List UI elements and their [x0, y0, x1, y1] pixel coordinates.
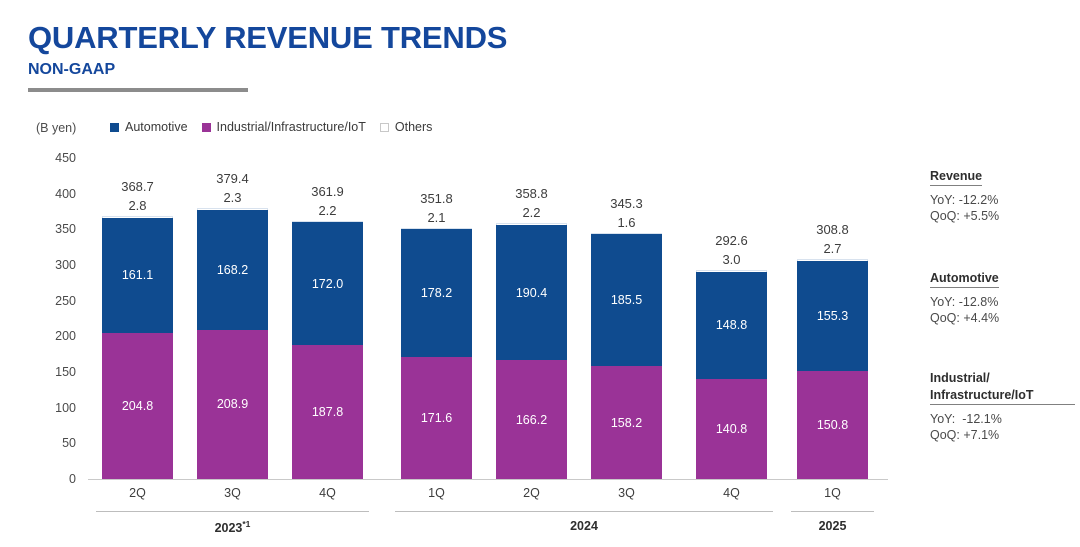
- x-axis-tick-label: 2Q: [496, 486, 567, 500]
- year-group-label: 2025: [791, 519, 874, 533]
- y-axis-tick-label: 100: [36, 402, 76, 415]
- bar-value-automotive: 190.4: [496, 287, 567, 300]
- annotation-heading: Automotive: [930, 270, 999, 288]
- bar-value-others: 2.2: [283, 204, 373, 217]
- bar-value-others: 2.3: [188, 191, 278, 204]
- x-axis-tick-label: 2Q: [102, 486, 173, 500]
- annotation-block-automotive: AutomotiveYoY: -12.8%QoQ: +4.4%: [930, 270, 1075, 326]
- year-label-text: 2024: [570, 519, 598, 533]
- annotation-heading: Revenue: [930, 168, 982, 186]
- bar-value-automotive: 161.1: [102, 269, 173, 282]
- bar-value-others: 1.6: [582, 216, 672, 229]
- x-axis-tick-label: 3Q: [197, 486, 268, 500]
- annotation-yoy: YoY: -12.1%: [930, 411, 1075, 427]
- bar-value-industrial: 166.2: [496, 414, 567, 427]
- stacked-bar[interactable]: [401, 228, 472, 479]
- bar-value-others: 2.1: [392, 211, 482, 224]
- annotation-block-revenue: RevenueYoY: -12.2%QoQ: +5.5%: [930, 168, 1075, 224]
- y-axis-tick-label: 450: [36, 152, 76, 165]
- year-group-rule: [96, 511, 369, 512]
- y-axis-tick-label: 250: [36, 295, 76, 308]
- annotation-heading-wrap: Automotive: [930, 270, 1075, 294]
- y-axis-tick-label: 0: [36, 473, 76, 486]
- y-axis-tick-label: 200: [36, 330, 76, 343]
- stacked-bar[interactable]: [591, 233, 662, 479]
- annotation-qoq: QoQ: +5.5%: [930, 208, 1075, 224]
- annotation-heading: Industrial/Infrastructure/IoT: [930, 370, 1075, 405]
- annotation-heading-line2: Infrastructure/IoT: [930, 387, 1075, 405]
- year-label-text: 2025: [819, 519, 847, 533]
- year-group-rule: [791, 511, 874, 512]
- x-axis-tick-label: 1Q: [401, 486, 472, 500]
- bar-value-total: 368.7: [93, 180, 183, 193]
- annotation-yoy: YoY: -12.2%: [930, 192, 1075, 208]
- year-footnote-marker: *1: [242, 519, 250, 529]
- year-group-label: 2024: [395, 519, 773, 533]
- bar-value-others: 2.8: [93, 199, 183, 212]
- bar-value-automotive: 155.3: [797, 310, 868, 323]
- annotation-heading-wrap: Revenue: [930, 168, 1075, 192]
- bar-value-total: 292.6: [687, 234, 777, 247]
- y-axis-tick-label: 350: [36, 223, 76, 236]
- bar-value-others: 2.2: [487, 206, 577, 219]
- bar-value-automotive: 168.2: [197, 264, 268, 277]
- y-axis-tick-label: 400: [36, 188, 76, 201]
- stacked-bar[interactable]: [292, 221, 363, 479]
- stacked-bar[interactable]: [102, 216, 173, 479]
- bar-value-total: 308.8: [788, 223, 878, 236]
- bar-value-total: 351.8: [392, 192, 482, 205]
- stacked-bar[interactable]: [496, 223, 567, 479]
- annotation-block-industrial: Industrial/Infrastructure/IoTYoY: -12.1%…: [930, 370, 1075, 443]
- chart-plot-area: 450400350300250200150100500161.1204.82.8…: [0, 0, 1080, 547]
- y-axis-tick-label: 300: [36, 259, 76, 272]
- y-axis-tick-label: 150: [36, 366, 76, 379]
- annotation-heading-line1: Industrial/: [930, 370, 1075, 387]
- x-axis-tick-label: 4Q: [696, 486, 767, 500]
- y-axis-tick-label: 50: [36, 437, 76, 450]
- slide-root: QUARTERLY REVENUE TRENDS NON-GAAP (B yen…: [0, 0, 1080, 547]
- stacked-bar[interactable]: [696, 270, 767, 479]
- annotation-yoy: YoY: -12.8%: [930, 294, 1075, 310]
- bar-value-industrial: 187.8: [292, 406, 363, 419]
- bar-value-industrial: 171.6: [401, 412, 472, 425]
- bar-value-automotive: 178.2: [401, 287, 472, 300]
- bar-value-total: 361.9: [283, 185, 373, 198]
- year-group-label: 2023*1: [96, 519, 369, 535]
- x-axis-baseline: [88, 479, 888, 480]
- bar-value-others: 3.0: [687, 253, 777, 266]
- bar-value-others: 2.7: [788, 242, 878, 255]
- bar-value-total: 345.3: [582, 197, 672, 210]
- stacked-bar[interactable]: [797, 259, 868, 479]
- x-axis-tick-label: 3Q: [591, 486, 662, 500]
- bar-value-industrial: 208.9: [197, 398, 268, 411]
- annotation-qoq: QoQ: +7.1%: [930, 427, 1075, 443]
- annotation-qoq: QoQ: +4.4%: [930, 310, 1075, 326]
- bar-value-automotive: 148.8: [696, 319, 767, 332]
- bar-value-industrial: 140.8: [696, 423, 767, 436]
- bar-value-industrial: 158.2: [591, 417, 662, 430]
- year-group-rule: [395, 511, 773, 512]
- bar-value-total: 358.8: [487, 187, 577, 200]
- bar-value-automotive: 172.0: [292, 278, 363, 291]
- stacked-bar[interactable]: [197, 208, 268, 479]
- x-axis-tick-label: 4Q: [292, 486, 363, 500]
- bar-value-industrial: 204.8: [102, 400, 173, 413]
- bar-value-automotive: 185.5: [591, 294, 662, 307]
- x-axis-tick-label: 1Q: [797, 486, 868, 500]
- bar-value-industrial: 150.8: [797, 419, 868, 432]
- year-label-text: 2023: [215, 521, 243, 535]
- bar-value-total: 379.4: [188, 172, 278, 185]
